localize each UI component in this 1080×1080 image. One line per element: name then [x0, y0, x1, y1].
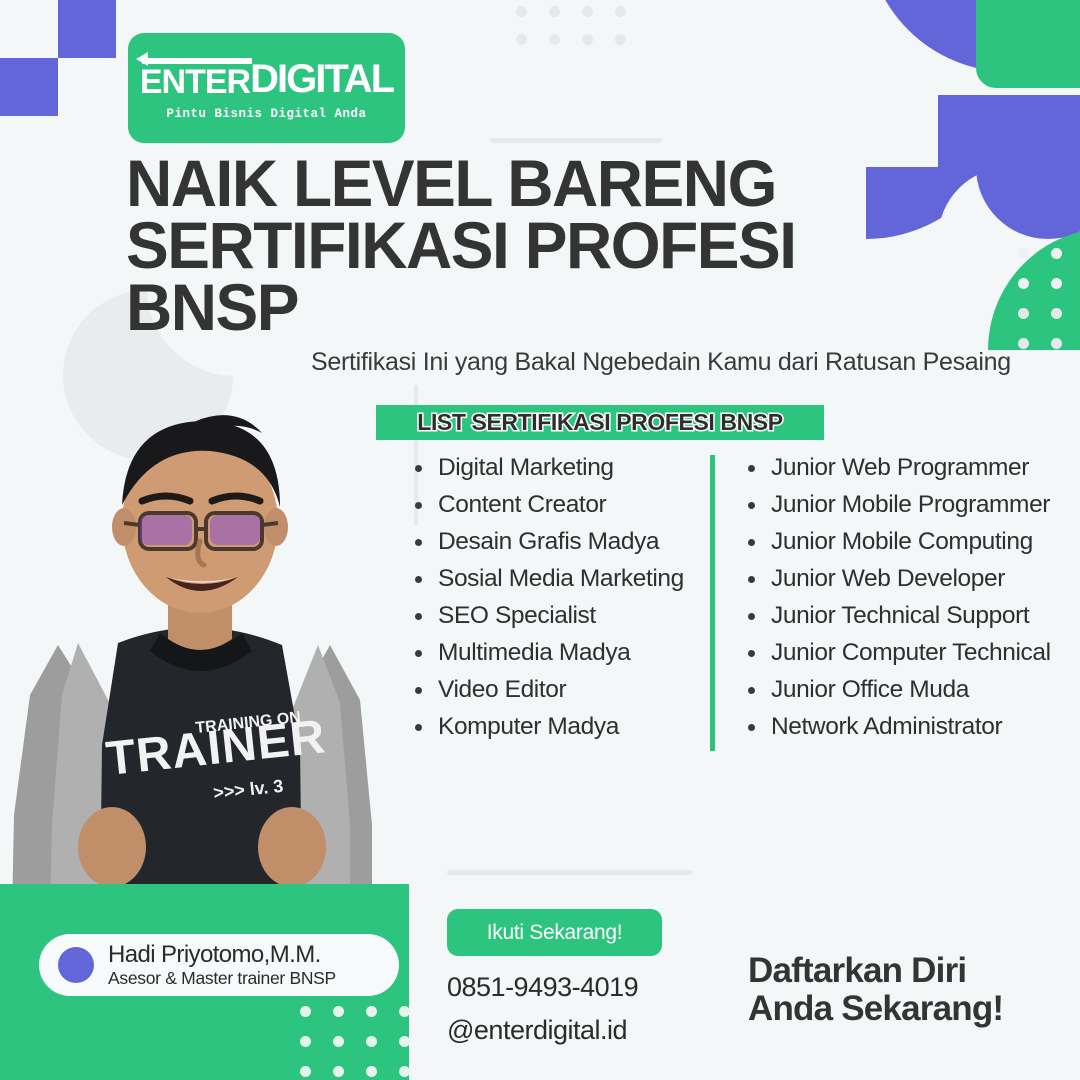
trainer-role: Asesor & Master trainer BNSP [108, 968, 336, 988]
list-item: Content Creator [410, 492, 710, 517]
list-banner-label: LIST SERTIFIKASI PROFESI BNSP [417, 409, 782, 436]
list-item: Digital Marketing [410, 455, 710, 480]
join-now-button[interactable]: Ikuti Sekarang! [447, 909, 662, 956]
poster-canvas: ENTER DIGITAL Pintu Bisnis Digital Anda … [0, 0, 1080, 1080]
trainer-namecard: Hadi Priyotomo,M.M. Asesor & Master trai… [39, 934, 399, 996]
page-title: NAIK LEVEL BARENG SERTIFIKASI PROFESI BN… [126, 152, 863, 338]
list-item: Junior Computer Technical [743, 640, 1060, 665]
list-item: Network Administrator [743, 714, 1060, 739]
brand-logo: ENTER DIGITAL Pintu Bisnis Digital Anda [128, 33, 405, 143]
contact-phone[interactable]: 0851-9493-4019 [447, 972, 638, 1003]
divider-bottom [447, 870, 692, 875]
cta-headline: Daftarkan Diri Anda Sekarang! [748, 952, 1068, 1028]
trainer-photo: TRAINING ON TRAINER >>> lv. 3 [0, 395, 400, 915]
brand-tagline: Pintu Bisnis Digital Anda [166, 107, 366, 121]
logo-enter-key-icon: ENTER [140, 56, 250, 99]
list-item: Junior Mobile Computing [743, 529, 1060, 554]
list-item: Video Editor [410, 677, 710, 702]
certification-list-left: Digital MarketingContent CreatorDesain G… [410, 455, 710, 751]
brand-logo-enter-text: ENTER [140, 63, 250, 101]
decor-dot-grid-top [516, 6, 640, 46]
certification-list-right: Junior Web ProgrammerJunior Mobile Progr… [710, 455, 1060, 751]
page-subtitle: Sertifikasi Ini yang Bakal Ngebedain Kam… [311, 348, 1071, 377]
brand-logo-digital-text: DIGITAL [250, 59, 393, 99]
list-item: Desain Grafis Madya [410, 529, 710, 554]
list-item: Junior Office Muda [743, 677, 1060, 702]
list-item: Junior Web Programmer [743, 455, 1060, 480]
list-item: Junior Technical Support [743, 603, 1060, 628]
decor-dot-grid-panel [300, 1006, 410, 1080]
list-item: SEO Specialist [410, 603, 710, 628]
trainer-name: Hadi Priyotomo,M.M. [108, 942, 336, 968]
list-item: Komputer Madya [410, 714, 710, 739]
avatar [58, 947, 94, 983]
decor-green-box [976, 0, 1080, 88]
divider-top [490, 138, 662, 143]
list-item: Multimedia Madya [410, 640, 710, 665]
list-banner: LIST SERTIFIKASI PROFESI BNSP [376, 405, 824, 440]
certification-lists: Digital MarketingContent CreatorDesain G… [410, 455, 1070, 751]
brand-logo-wordmark: ENTER DIGITAL [140, 55, 393, 99]
cta-headline-line2: Anda Sekarang! [748, 989, 1003, 1028]
list-item: Junior Web Developer [743, 566, 1060, 591]
decor-square-purple-left [0, 58, 58, 116]
decor-square-purple-top [58, 0, 116, 58]
contact-instagram-handle[interactable]: @enterdigital.id [447, 1015, 627, 1046]
list-item: Sosial Media Marketing [410, 566, 710, 591]
list-item: Junior Mobile Programmer [743, 492, 1060, 517]
cta-headline-line1: Daftarkan Diri [748, 951, 966, 990]
